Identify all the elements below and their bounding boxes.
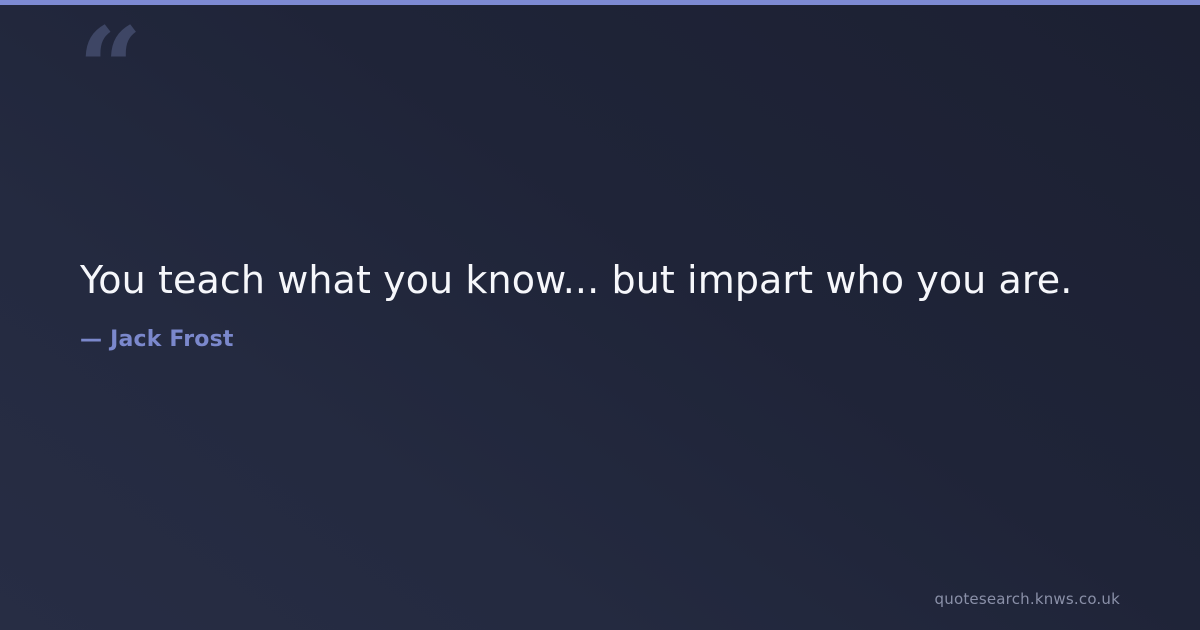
quote-body: You teach what you know... but impart wh… bbox=[80, 256, 1120, 353]
quote-attribution: — Jack Frost bbox=[80, 327, 1120, 353]
site-watermark: quotesearch.knws.co.uk bbox=[935, 590, 1120, 608]
quote-card: “ You teach what you know... but impart … bbox=[0, 0, 1200, 630]
attribution-author: Jack Frost bbox=[110, 327, 234, 352]
attribution-dash: — bbox=[80, 327, 102, 352]
top-accent-bar bbox=[0, 0, 1200, 5]
open-quote-icon: “ bbox=[78, 14, 140, 126]
quote-text: You teach what you know... but impart wh… bbox=[80, 256, 1120, 305]
